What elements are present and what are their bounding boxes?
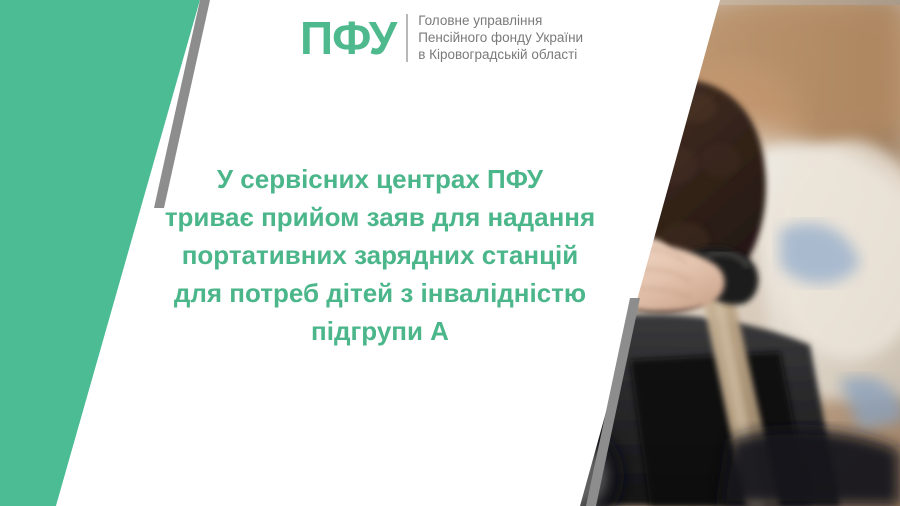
logo-line-1: Головне управління bbox=[418, 12, 583, 29]
beige-top-sliver bbox=[420, 0, 900, 5]
pfu-logo-mark: ПФУ bbox=[300, 15, 396, 61]
logo-line-2: Пенсійного фонду України bbox=[418, 29, 583, 46]
headline-line-5: підгрупи А bbox=[120, 312, 640, 350]
headline-line-2: триває прийом заяв для надання bbox=[120, 198, 640, 236]
headline-line-3: портативних зарядних станцій bbox=[120, 236, 640, 274]
logo-line-3: в Кіровоградській області bbox=[418, 46, 583, 63]
poster-canvas: ПФУ Головне управління Пенсійного фонду … bbox=[0, 0, 900, 506]
headline-block: У сервісних центрах ПФУ триває прийом за… bbox=[120, 160, 640, 350]
headline-line-1: У сервісних центрах ПФУ bbox=[120, 160, 640, 198]
headline-line-4: для потреб дітей з інвалідністю bbox=[120, 274, 640, 312]
pfu-logo: ПФУ Головне управління Пенсійного фонду … bbox=[300, 12, 583, 63]
logo-text-block: Головне управління Пенсійного фонду Укра… bbox=[418, 12, 583, 63]
logo-divider bbox=[406, 14, 408, 62]
